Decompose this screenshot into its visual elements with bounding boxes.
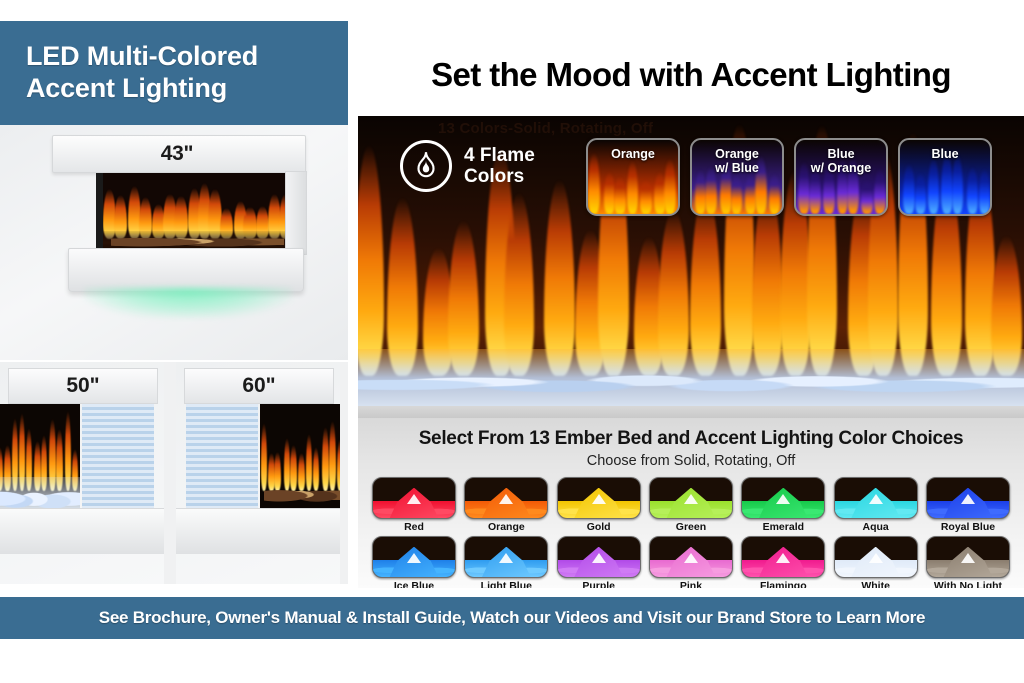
swatch-highlight [869,553,883,563]
chip-label: Blue [900,147,990,161]
ember-section-subtitle: Choose from Solid, Rotating, Off [358,450,1024,469]
swatch-thumbnail [926,536,1010,578]
swatch-thumbnail [649,536,733,578]
swatch-label: Pink [649,580,733,588]
under-shelf-accent-glow [84,288,292,318]
size-label-50: 50" [8,368,158,404]
swatch-thumbnail [557,477,641,519]
hero-floor [358,406,1024,418]
swatch-label: Flamingo [741,580,825,588]
banner-line-1: LED Multi-Colored [26,41,348,73]
hero-flame-photo: 13 Colors-Solid, Rotating, Off 4 Flame C… [358,116,1024,418]
swatch-label: Red [372,521,456,533]
log-set-graphic [264,482,340,505]
swatch-highlight [961,553,975,563]
color-swatch-grid: RedOrangeGoldGreenEmeraldAquaRoyal Blue … [358,477,1024,588]
footer-cta-banner[interactable]: See Brochure, Owner's Manual & Install G… [0,597,1024,639]
swatch-highlight [776,553,790,563]
ember-bed-color-section: Select From 13 Ember Bed and Accent Ligh… [358,418,1024,588]
color-swatch-flamingo[interactable]: Flamingo [741,536,825,588]
swatch-thumbnail [649,477,733,519]
footer-cta-text: See Brochure, Owner's Manual & Install G… [99,608,926,628]
swatch-row-2: Ice BlueLight BluePurplePinkFlamingoWhit… [372,536,1010,588]
swatch-highlight [776,494,790,504]
swatch-row-1: RedOrangeGoldGreenEmeraldAquaRoyal Blue [372,477,1010,533]
color-swatch-aqua[interactable]: Aqua [834,477,918,533]
flame-icon [400,140,452,192]
badge-text: 4 Flame Colors [464,145,535,188]
accent-lighting-main-panel: 13 Colors-Solid, Rotating, Off 4 Flame C… [358,116,1024,588]
color-swatch-gold[interactable]: Gold [557,477,641,533]
swatch-label: Aqua [834,521,918,533]
firebox-60 [260,404,340,508]
swatch-label: Royal Blue [926,521,1010,533]
swatch-highlight [499,494,513,504]
chip-label: Bluew/ Orange [796,147,886,176]
log-set-graphic [111,232,285,249]
swatch-highlight [961,494,975,504]
swatch-thumbnail [464,477,548,519]
color-swatch-ice-blue[interactable]: Ice Blue [372,536,456,588]
accent-light-wall-60 [186,404,258,510]
product-infographic: LED Multi-Colored Accent Lighting Set th… [0,0,1024,683]
swatch-highlight [407,494,421,504]
swatch-label: Orange [464,521,548,533]
swatch-highlight [499,553,513,563]
size-label-43: 43" [48,135,306,173]
swatch-thumbnail [834,536,918,578]
swatch-highlight [407,553,421,563]
color-swatch-pink[interactable]: Pink [649,536,733,588]
side-panel [285,171,307,255]
swatch-label: Emerald [741,521,825,533]
swatch-thumbnail [557,536,641,578]
swatch-label: With No Light [926,580,1010,588]
firebox-50 [0,404,80,508]
flame-color-chip-list: OrangeOrangew/ BlueBluew/ OrangeBlue [586,138,992,216]
swatch-thumbnail [372,477,456,519]
swatch-highlight [592,553,606,563]
size-label-60: 60" [184,368,334,404]
page-headline: Set the Mood with Accent Lighting [358,44,1024,106]
fireplace-size-comparison-panel: 50" 60" [0,362,348,584]
fireplace-43-panel: 43" [0,125,348,360]
banner-line-2: Accent Lighting [26,73,348,105]
swatch-label: Light Blue [464,580,548,588]
swatch-highlight [684,494,698,504]
color-swatch-royal-blue[interactable]: Royal Blue [926,477,1010,533]
flame-color-chip-orange[interactable]: Orange [586,138,680,216]
four-flame-colors-badge: 4 Flame Colors [400,140,535,192]
accent-light-wall-50 [82,404,154,510]
faint-overlay-text: 13 Colors-Solid, Rotating, Off [438,120,653,137]
swatch-thumbnail [741,536,825,578]
color-swatch-white[interactable]: White [834,536,918,588]
color-swatch-orange[interactable]: Orange [464,477,548,533]
swatch-highlight [869,494,883,504]
swatch-thumbnail [926,477,1010,519]
color-swatch-light-blue[interactable]: Light Blue [464,536,548,588]
swatch-highlight [592,494,606,504]
swatch-thumbnail [834,477,918,519]
fireplace-60-unit: 60" [176,362,340,584]
fireplace-43-unit: 43" [48,133,310,323]
swatch-thumbnail [741,477,825,519]
bottom-mantel-shelf [176,508,340,554]
swatch-label: Green [649,521,733,533]
firebox-43 [96,173,292,251]
swatch-label: White [834,580,918,588]
chip-label: Orange [588,147,678,161]
color-swatch-green[interactable]: Green [649,477,733,533]
crystal-ember-bed [0,477,80,508]
color-swatch-with-no-light[interactable]: With No Light [926,536,1010,588]
bottom-mantel-shelf [0,508,164,554]
swatch-thumbnail [464,536,548,578]
flame-color-chip-blue[interactable]: Blue [898,138,992,216]
color-swatch-emerald[interactable]: Emerald [741,477,825,533]
bottom-mantel-shelf [68,248,304,292]
swatch-highlight [684,553,698,563]
badge-line-1: 4 Flame [464,145,535,166]
badge-line-2: Colors [464,166,535,187]
flame-color-chip-blue-w--orange[interactable]: Bluew/ Orange [794,138,888,216]
swatch-label: Ice Blue [372,580,456,588]
flame-color-chip-orange-w--blue[interactable]: Orangew/ Blue [690,138,784,216]
swatch-label: Purple [557,580,641,588]
led-accent-title-banner: LED Multi-Colored Accent Lighting [0,21,348,125]
ember-section-title: Select From 13 Ember Bed and Accent Ligh… [358,418,1024,450]
swatch-label: Gold [557,521,641,533]
color-swatch-red[interactable]: Red [372,477,456,533]
color-swatch-purple[interactable]: Purple [557,536,641,588]
swatch-thumbnail [372,536,456,578]
chip-label: Orangew/ Blue [692,147,782,176]
fireplace-50-unit: 50" [0,362,164,584]
